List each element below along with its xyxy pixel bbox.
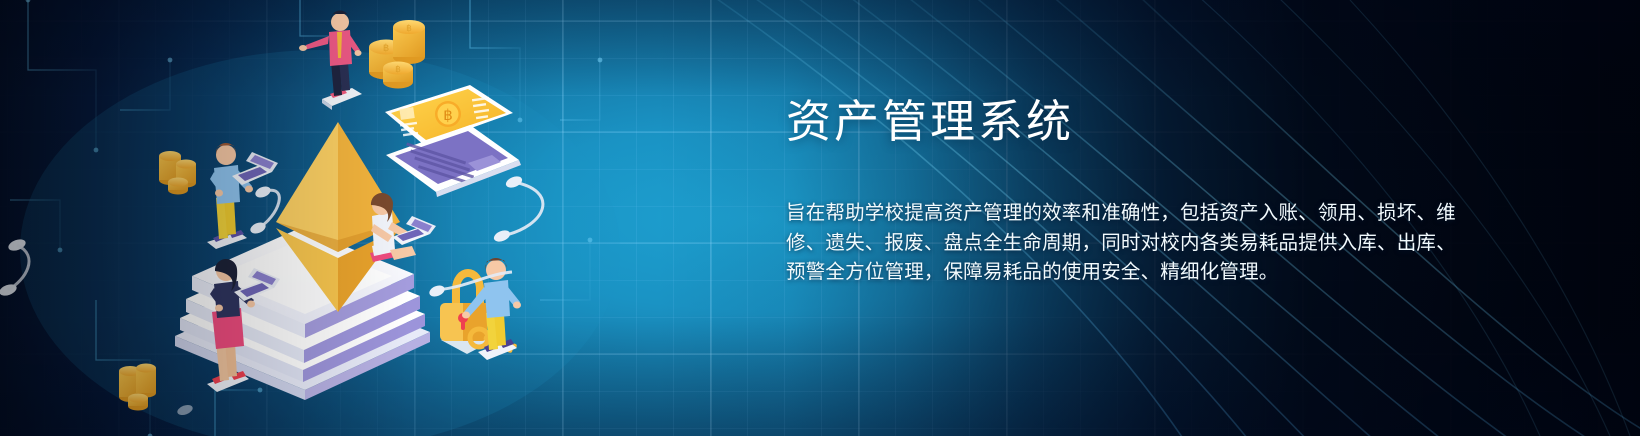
asset-management-banner: ฿ ฿ ฿ xyxy=(0,0,1640,436)
svg-text:฿: ฿ xyxy=(443,108,453,124)
svg-text:฿: ฿ xyxy=(406,23,412,33)
banner-description: 旨在帮助学校提高资产管理的效率和准确性，包括资产入账、领用、损坏、维修、遗失、报… xyxy=(786,199,1458,288)
page-title: 资产管理系统 xyxy=(786,92,1466,152)
banner-text-block: 资产管理系统 旨在帮助学校提高资产管理的效率和准确性，包括资产入账、领用、损坏、… xyxy=(786,92,1466,288)
svg-text:฿: ฿ xyxy=(383,43,389,54)
svg-text:฿: ฿ xyxy=(395,64,401,74)
